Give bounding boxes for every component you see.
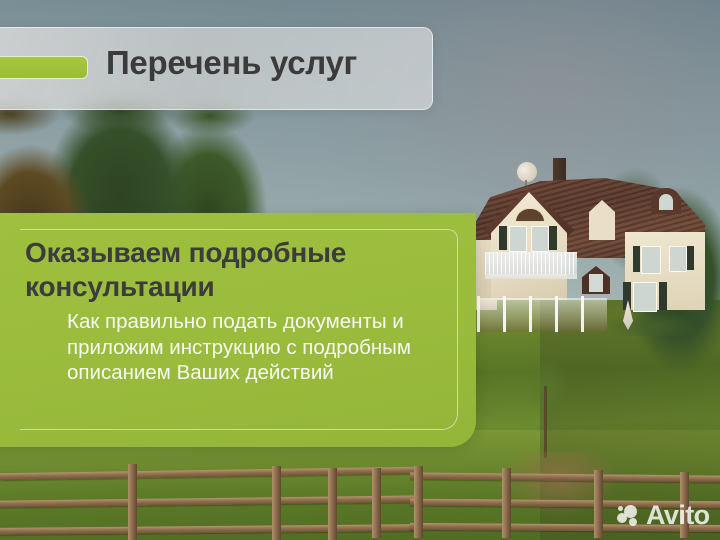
fence-post <box>502 468 511 538</box>
young-tree-trunk <box>544 386 547 458</box>
page-title: Перечень услуг <box>106 44 357 82</box>
shutter <box>659 282 667 310</box>
fence-post <box>272 466 281 540</box>
fence-post <box>372 468 381 538</box>
fence-rail <box>0 524 420 535</box>
shutter <box>633 246 640 272</box>
avito-dots-icon <box>617 505 641 527</box>
wooden-fence <box>0 452 720 540</box>
dormer-lower-window <box>589 274 603 292</box>
fence-post <box>328 468 337 540</box>
fence-post <box>414 466 423 538</box>
slide-canvas: Перечень услуг Оказываем подробные консу… <box>0 0 720 540</box>
shutter <box>549 226 557 250</box>
window <box>531 226 549 252</box>
window <box>641 246 661 274</box>
hedge <box>605 312 695 336</box>
young-tree <box>512 350 582 460</box>
window <box>509 226 527 252</box>
avito-watermark: Avito <box>617 502 710 529</box>
fence-rail <box>410 472 720 482</box>
services-card-body: Как правильно подать документы и приложи… <box>67 309 459 386</box>
balcony-railing <box>485 252 577 274</box>
fence-post <box>128 464 137 540</box>
window <box>633 282 657 312</box>
fence-post <box>594 470 603 538</box>
shutter <box>499 226 507 250</box>
services-card-heading: Оказываем подробные консультации <box>25 236 455 304</box>
avito-wordmark: Avito <box>646 502 710 529</box>
shutter <box>687 246 694 270</box>
header-accent-bar <box>0 56 88 79</box>
dormer-right-window <box>659 194 673 210</box>
house <box>455 140 705 340</box>
porch-posts <box>477 296 607 332</box>
fence-rail <box>0 495 420 507</box>
window <box>669 246 687 272</box>
satellite-dish-icon <box>514 159 539 184</box>
fence-rail <box>0 467 420 481</box>
